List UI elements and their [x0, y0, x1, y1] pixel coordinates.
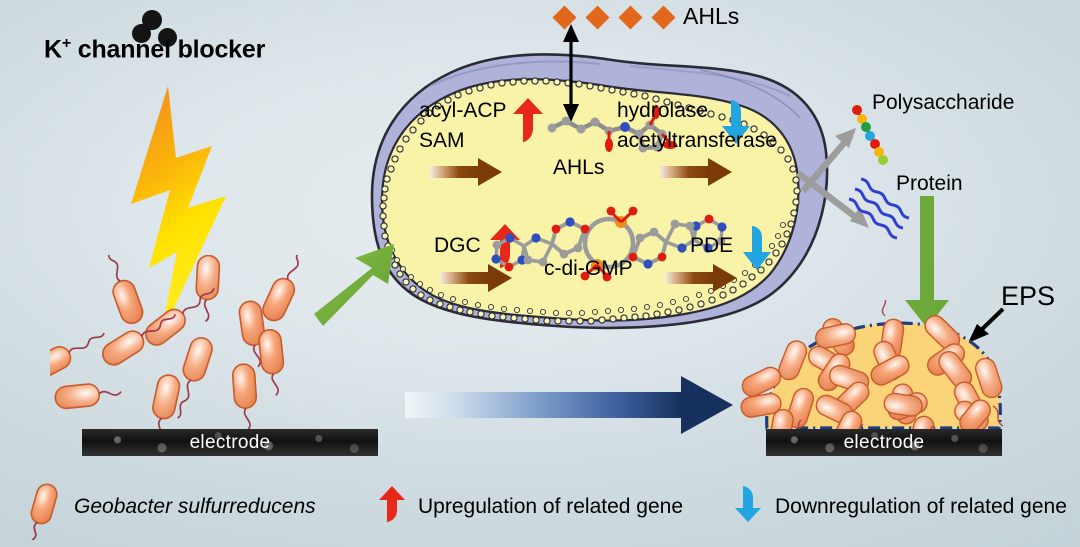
k-channel-blocker-sup: + [62, 35, 71, 52]
figure-canvas: K+ channel blocker AHLs acyl-ACP SAM AHL… [0, 0, 1080, 547]
legend-label-downregulation: Downregulation of related gene [775, 496, 1067, 518]
legend: Geobacter sulfurreducens Upregulation of… [0, 470, 1080, 547]
electrode-left-label: electrode [190, 432, 271, 454]
substrate-acyl-acp: acyl-ACP [419, 100, 507, 122]
k-channel-blocker-title: K+ channel blocker [44, 36, 265, 63]
legend-label-upregulation: Upregulation of related gene [418, 496, 683, 518]
planktonic-bacteria-group [50, 255, 380, 455]
reaction-arrow-ahl-degradation [660, 158, 732, 186]
secretion-arrow-protein [798, 173, 869, 228]
product-cdigmp: c-di-GMP [544, 258, 633, 280]
red-up-arrow-icon [377, 484, 411, 526]
substrate-sam: SAM [419, 130, 465, 152]
label-eps: EPS [1001, 282, 1055, 310]
enzyme-acetyltransferase: acetyltransferase [617, 130, 777, 152]
product-ahls: AHLs [553, 157, 604, 179]
reaction-arrow-ahl-synthesis [430, 158, 502, 186]
reaction-arrow-cdigmp-synthesis [440, 264, 512, 292]
blue-down-arrow-icon [733, 484, 767, 526]
bacterium-icon [22, 478, 68, 540]
upregulation-arrow-ahl [513, 98, 543, 142]
k-channel-blocker-k: K [44, 35, 62, 63]
enzyme-hydrolase: hydrolase [617, 100, 708, 122]
legend-label-geobacter: Geobacter sulfurreducens [74, 496, 316, 518]
biofilm-cluster [735, 300, 1035, 440]
k-channel-blocker-rest: channel blocker [71, 35, 265, 63]
enzyme-pde: PDE [690, 235, 733, 257]
bacterial-cell [372, 54, 827, 327]
enzyme-dgc: DGC [434, 235, 481, 257]
reaction-arrow-cdigmp-degradation [665, 264, 737, 292]
ahl-diamond-label: AHLs [683, 4, 739, 28]
secretion-arrow-polysaccharide [803, 128, 856, 191]
electrode-right: electrode [766, 429, 1002, 456]
electrode-right-label: electrode [844, 432, 925, 454]
ahl-diamond-icons [552, 5, 675, 29]
biofilm-formation-arrow [405, 376, 733, 434]
label-protein: Protein [896, 173, 963, 195]
upregulation-arrow-cdigmp [490, 224, 520, 268]
electrode-left: electrode [82, 429, 378, 456]
ahl-transport-double-arrow [563, 24, 579, 122]
downregulation-arrow-cdigmp [743, 226, 771, 270]
label-polysaccharide: Polysaccharide [872, 92, 1014, 114]
